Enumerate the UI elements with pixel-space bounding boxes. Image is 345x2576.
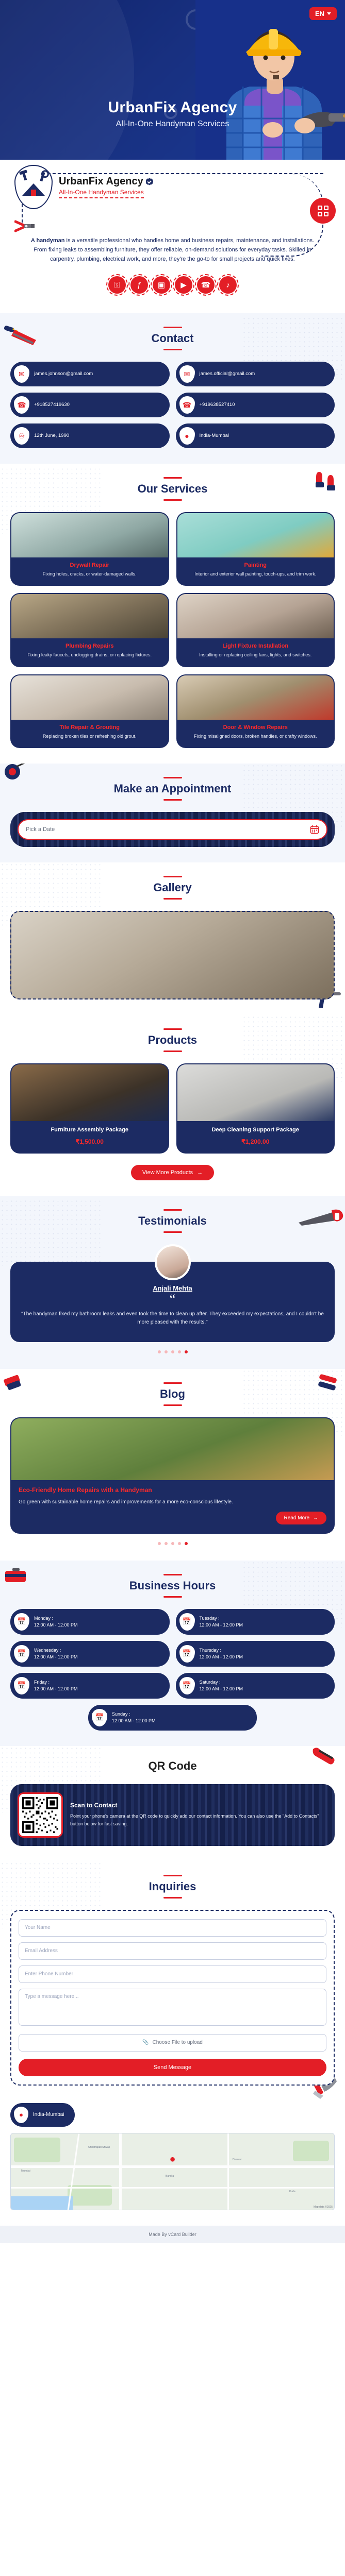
service-card[interactable]: Painting Interior and exterior wall pain…: [176, 512, 335, 586]
contact-header: Contact: [10, 327, 335, 350]
service-desc: Fixing holes, cracks, or water-damaged w…: [17, 571, 163, 578]
section-title: Inquiries: [10, 1880, 335, 1893]
service-desc: Installing or replacing ceiling fans, li…: [183, 652, 329, 658]
divider: [163, 1050, 182, 1052]
location-pill[interactable]: ● India-Mumbai: [10, 2103, 75, 2127]
section-title: Products: [10, 1033, 335, 1047]
brand-name: UrbanFix Agency: [59, 176, 143, 188]
intro-lead: A handyman: [31, 238, 65, 244]
phone-input[interactable]: [19, 1965, 326, 1983]
section-title: QR Code: [10, 1759, 335, 1773]
service-photo: [11, 513, 168, 557]
map-label: Kurla: [289, 2190, 295, 2193]
hours-row-thursday: 📅 Thursday : 12:00 AM - 12:00 PM: [176, 1641, 335, 1667]
contact-value: +918527419630: [34, 402, 70, 408]
hours-row-wednesday: 📅 Wednesday : 12:00 AM - 12:00 PM: [10, 1641, 170, 1667]
service-photo: [11, 594, 168, 638]
hours-time: 12:00 AM - 12:00 PM: [34, 1622, 78, 1628]
map-label: Dharavi: [233, 2158, 241, 2161]
qr-text: Scan to Contact Point your phone's camer…: [70, 1802, 327, 1828]
map-label: Bandra: [166, 2175, 174, 2178]
house-tools-icon: [22, 178, 45, 196]
pliers-icon: [14, 219, 36, 233]
qr-code-icon: [318, 206, 328, 216]
divider: [163, 327, 182, 328]
intro-text: is a versatile professional who handles …: [34, 238, 314, 262]
service-card[interactable]: Door & Window Repairs Fixing misaligned …: [176, 674, 335, 748]
product-price: ₹1,500.00: [15, 1138, 164, 1145]
qr-heading: Scan to Contact: [70, 1802, 327, 1809]
quote-mark-icon: “: [21, 1294, 324, 1305]
appointment-section: Make an Appointment Pick a Date: [0, 764, 345, 862]
section-title: Testimonials: [10, 1214, 335, 1228]
pagination-dot[interactable]: [178, 1542, 181, 1545]
map[interactable]: ● Mumbai Chhatrapati Shivaji Bandra Dhar…: [10, 2133, 335, 2210]
calendar-clock-icon: 📅: [179, 1677, 195, 1694]
divider: [163, 499, 182, 501]
hero-banner: EN UrbanFix Agency All-In-One Handyman S…: [0, 0, 345, 160]
phone-icon: ☎: [14, 396, 29, 414]
gallery-image[interactable]: [10, 911, 335, 999]
map-label: Chhatrapati Shivaji: [88, 2146, 110, 2149]
divider: [163, 1596, 182, 1598]
pagination-dot[interactable]: [171, 1350, 174, 1353]
blog-card[interactable]: Eco-Friendly Home Repairs with a Handyma…: [10, 1417, 335, 1534]
divider: [163, 1028, 182, 1030]
section-title: Make an Appointment: [10, 782, 335, 795]
contact-value: India-Mumbai: [200, 433, 229, 439]
language-label: EN: [315, 10, 324, 18]
view-more-products-label: View More Products: [142, 1170, 193, 1176]
hero-subtitle: All-In-One Handyman Services: [0, 120, 345, 129]
service-name: Plumbing Repairs: [17, 643, 163, 649]
product-photo: [11, 1064, 168, 1121]
calendar-clock-icon: 📅: [92, 1709, 107, 1726]
service-desc: Replacing broken tiles or refreshing old…: [17, 733, 163, 740]
blog-section: Blog Eco-Friendly Home Repairs with a Ha…: [0, 1369, 345, 1561]
calendar-clock-icon: 📅: [179, 1645, 195, 1663]
testimonial-pagination[interactable]: [10, 1350, 335, 1353]
calendar-clock-icon: 📅: [179, 1613, 195, 1631]
divider: [163, 477, 182, 479]
calendar-clock-icon: 📅: [14, 1677, 29, 1694]
divider: [163, 1209, 182, 1211]
map-pin-icon: ●: [169, 2154, 175, 2165]
pagination-dot[interactable]: [171, 1542, 174, 1545]
facebook-icon[interactable]: ƒ: [130, 276, 148, 294]
service-card[interactable]: Plumbing Repairs Fixing leaky faucets, u…: [10, 593, 169, 667]
name-input[interactable]: [19, 1919, 326, 1937]
blog-header: Blog: [10, 1382, 335, 1406]
whatsapp-icon[interactable]: ☎: [197, 276, 215, 294]
divider: [163, 1404, 182, 1406]
blog-post-desc: Go green with sustainable home repairs a…: [19, 1498, 326, 1506]
qr-code-image[interactable]: [18, 1792, 63, 1838]
service-card[interactable]: Drywall Repair Fixing holes, cracks, or …: [10, 512, 169, 586]
contact-value: +919638527410: [200, 402, 235, 408]
qr-card: Scan to Contact Point your phone's camer…: [10, 1784, 335, 1846]
service-photo: [177, 513, 334, 557]
section-title: Business Hours: [10, 1579, 335, 1592]
testimonial-wrap: Anjali Mehta “ "The handyman fixed my ba…: [10, 1244, 335, 1353]
gallery-header: Gallery: [10, 876, 335, 900]
hero-blob: [0, 0, 134, 160]
products-grid: Furniture Assembly Package ₹1,500.00 Dee…: [10, 1063, 335, 1154]
section-title: Our Services: [10, 482, 335, 496]
calendar-clock-icon: 📅: [14, 1645, 29, 1663]
arrow-right-icon: →: [313, 1515, 318, 1521]
service-card[interactable]: Light Fixture Installation Installing or…: [176, 593, 335, 667]
calendar-icon: [310, 825, 319, 834]
divider: [163, 898, 182, 900]
language-selector[interactable]: EN: [309, 7, 337, 20]
hours-day: Thursday :: [200, 1648, 222, 1653]
intro-paragraph: A handyman is a versatile professional w…: [10, 223, 335, 267]
upload-icon: 📎: [142, 2040, 149, 2045]
birthday-cake-icon: ♾: [14, 427, 29, 445]
qr-header: QR Code: [10, 1759, 335, 1773]
hours-last-row-wrap: 📅 Sunday : 12:00 AM - 12:00 PM: [10, 1705, 335, 1731]
divider: [163, 876, 182, 877]
qr-description: Point your phone's camera at the QR code…: [70, 1812, 327, 1828]
hero-handyman-photo: [195, 0, 345, 160]
brand-card: UrbanFix Agency All-In-One Handyman Serv…: [0, 160, 345, 313]
testimonial-quote: "The handyman fixed my bathroom leaks an…: [21, 1310, 324, 1327]
divider: [163, 1897, 182, 1899]
testimonials-header: Testimonials: [10, 1209, 335, 1233]
file-upload-button[interactable]: 📎 Choose File to upload: [19, 2034, 326, 2052]
pagination-dot-active[interactable]: [185, 1542, 188, 1545]
brand-text: UrbanFix Agency All-In-One Handyman Serv…: [59, 176, 153, 198]
hours-row-tuesday: 📅 Tuesday : 12:00 AM - 12:00 PM: [176, 1609, 335, 1635]
contact-value: james.official@gmail.com: [200, 371, 255, 377]
product-photo: [177, 1064, 334, 1121]
product-card[interactable]: Furniture Assembly Package ₹1,500.00: [10, 1063, 169, 1154]
map-label: Mumbai: [21, 2170, 30, 2173]
email-input[interactable]: [19, 1942, 326, 1960]
service-name: Light Fixture Installation: [183, 643, 329, 649]
services-header: Our Services: [10, 477, 335, 501]
service-name: Tile Repair & Grouting: [17, 724, 163, 731]
service-photo: [11, 675, 168, 720]
contact-value: james.johnson@gmail.com: [34, 371, 93, 377]
product-card[interactable]: Deep Cleaning Support Package ₹1,200.00: [176, 1063, 335, 1154]
product-name: Furniture Assembly Package: [15, 1126, 164, 1134]
hours-time: 12:00 AM - 12:00 PM: [34, 1654, 78, 1659]
service-name: Door & Window Repairs: [183, 724, 329, 731]
website-icon[interactable]: ⚿: [108, 276, 126, 294]
contact-item-birthday[interactable]: ♾ 12th June, 1990: [10, 423, 170, 448]
read-more-label: Read More: [284, 1515, 309, 1521]
location-section: ● India-Mumbai ● Mumbai Chhatrapati Shiv…: [0, 2101, 345, 2226]
contact-section: Contact ✉ james.johnson@gmail.com ✉ jame…: [0, 313, 345, 464]
hero-title: UrbanFix Agency: [0, 99, 345, 116]
service-desc: Interior and exterior wall painting, tou…: [183, 571, 329, 578]
blog-photo: [11, 1418, 334, 1480]
hours-row-saturday: 📅 Saturday : 12:00 AM - 12:00 PM: [176, 1673, 335, 1699]
contact-grid: ✉ james.johnson@gmail.com ✉ james.offici…: [10, 362, 335, 448]
service-photo: [177, 594, 334, 638]
email-icon: ✉: [179, 365, 195, 383]
date-placeholder: Pick a Date: [26, 826, 55, 833]
service-name: Painting: [183, 562, 329, 568]
pagination-dot[interactable]: [178, 1350, 181, 1353]
calendar-clock-icon: 📅: [14, 1613, 29, 1631]
product-price: ₹1,200.00: [182, 1138, 330, 1145]
products-cta-wrap: View More Products →: [10, 1165, 335, 1180]
send-message-button[interactable]: Send Message: [19, 2059, 326, 2076]
divider: [163, 799, 182, 801]
hours-time: 12:00 AM - 12:00 PM: [200, 1654, 243, 1659]
hours-day: Wednesday :: [34, 1648, 61, 1653]
section-title: Blog: [10, 1387, 335, 1401]
phone-icon: ☎: [179, 396, 195, 414]
hours-day: Friday :: [34, 1680, 50, 1685]
divider: [163, 1574, 182, 1575]
qr-code-fab-button[interactable]: [310, 198, 336, 224]
appointment-card: Pick a Date: [10, 812, 335, 847]
divider: [163, 1231, 182, 1233]
divider: [163, 1875, 182, 1876]
contact-item-email-1[interactable]: ✉ james.johnson@gmail.com: [10, 362, 170, 386]
location-pin-icon: ●: [14, 2107, 28, 2123]
section-title: Contact: [10, 332, 335, 345]
hours-day: Tuesday :: [200, 1616, 220, 1621]
brand-tagline: All-In-One Handyman Services: [59, 189, 144, 198]
instagram-icon[interactable]: ▣: [153, 276, 170, 294]
hours-time: 12:00 AM - 12:00 PM: [112, 1718, 156, 1723]
hero-text: UrbanFix Agency All-In-One Handyman Serv…: [0, 99, 345, 129]
location-pin-icon: ●: [179, 427, 195, 445]
view-more-products-button[interactable]: View More Products →: [131, 1165, 214, 1180]
business-hours-section: Business Hours 📅 Monday : 12:00 AM - 12:…: [0, 1561, 345, 1746]
footer: Made By vCard Builder: [0, 2226, 345, 2243]
verified-badge-icon: [146, 178, 153, 185]
service-name: Drywall Repair: [17, 562, 163, 568]
service-card[interactable]: Tile Repair & Grouting Replacing broken …: [10, 674, 169, 748]
testimonials-section: Testimonials Anjali Mehta “ "The handyma…: [0, 1196, 345, 1369]
social-links: ⚿ ƒ ▣ ▶ ☎ ♪: [10, 267, 335, 307]
pagination-dot[interactable]: [158, 1350, 161, 1353]
pagination-dot-active[interactable]: [185, 1350, 188, 1353]
qr-code-icon: [22, 1797, 58, 1833]
products-section: Products Furniture Assembly Package ₹1,5…: [0, 1015, 345, 1196]
business-hours-header: Business Hours: [10, 1574, 335, 1598]
divider: [163, 1382, 182, 1384]
location-label: India-Mumbai: [33, 2112, 64, 2117]
email-icon: ✉: [14, 365, 29, 383]
service-desc: Fixing leaky faucets, unclogging drains,…: [17, 652, 163, 658]
hours-time: 12:00 AM - 12:00 PM: [200, 1622, 243, 1628]
pagination-dot[interactable]: [165, 1350, 168, 1353]
date-picker[interactable]: Pick a Date: [18, 819, 327, 840]
youtube-icon[interactable]: ▶: [175, 276, 192, 294]
contact-item-phone-1[interactable]: ☎ +918527419630: [10, 393, 170, 417]
pagination-dot[interactable]: [158, 1542, 161, 1545]
pagination-dot[interactable]: [165, 1542, 168, 1545]
brand-logo-row: UrbanFix Agency All-In-One Handyman Serv…: [14, 165, 153, 209]
service-photo: [177, 675, 334, 720]
blog-post-title: Eco-Friendly Home Repairs with a Handyma…: [19, 1486, 326, 1494]
service-desc: Fixing misaligned doors, broken handles,…: [183, 733, 329, 740]
services-grid: Drywall Repair Fixing holes, cracks, or …: [10, 512, 335, 748]
avatar: [155, 1244, 191, 1280]
arrow-right-icon: →: [197, 1170, 203, 1176]
footer-text: Made By vCard Builder: [149, 2232, 196, 2237]
read-more-button[interactable]: Read More →: [276, 1512, 326, 1524]
contact-item-phone-2[interactable]: ☎ +919638527410: [176, 393, 335, 417]
vcard-page: EN UrbanFix Agency All-In-One Handyman S…: [0, 0, 345, 2243]
qr-section: QR Code: [0, 1746, 345, 1861]
inquiries-header: Inquiries: [10, 1875, 335, 1899]
inquiries-section: Inquiries 📎 Choose File to upload Send M…: [0, 1861, 345, 2101]
section-title: Gallery: [10, 881, 335, 894]
appointment-header: Make an Appointment: [10, 777, 335, 801]
contact-value: 12th June, 1990: [34, 433, 69, 439]
products-header: Products: [10, 1028, 335, 1052]
inquiry-form: 📎 Choose File to upload Send Message: [10, 1910, 335, 2086]
hours-day: Monday :: [34, 1616, 53, 1621]
message-textarea[interactable]: [19, 1989, 326, 2026]
contact-item-location[interactable]: ● India-Mumbai: [176, 423, 335, 448]
contact-item-email-2[interactable]: ✉ james.official@gmail.com: [176, 362, 335, 386]
blog-pagination[interactable]: [10, 1542, 335, 1545]
chevron-down-icon: [327, 12, 331, 15]
hours-row-monday: 📅 Monday : 12:00 AM - 12:00 PM: [10, 1609, 170, 1635]
hours-row-sunday: 📅 Sunday : 12:00 AM - 12:00 PM: [88, 1705, 257, 1731]
brand-name-row: UrbanFix Agency: [59, 176, 153, 188]
divider: [163, 349, 182, 350]
product-name: Deep Cleaning Support Package: [182, 1126, 330, 1134]
tiktok-icon[interactable]: ♪: [219, 276, 237, 294]
gallery-section: Gallery: [0, 862, 345, 1015]
testimonial-author: Anjali Mehta: [21, 1284, 324, 1292]
map-credit: Map data ©2025: [314, 2206, 333, 2209]
services-section: Our Services Drywall Repair Fixing holes…: [0, 464, 345, 763]
hours-time: 12:00 AM - 12:00 PM: [200, 1686, 243, 1691]
divider: [163, 777, 182, 778]
hours-time: 12:00 AM - 12:00 PM: [34, 1686, 78, 1691]
brand-logo-shield: [14, 165, 53, 209]
hours-grid: 📅 Monday : 12:00 AM - 12:00 PM 📅 Tuesday…: [10, 1609, 335, 1699]
hours-day: Sunday :: [112, 1711, 130, 1717]
hours-row-friday: 📅 Friday : 12:00 AM - 12:00 PM: [10, 1673, 170, 1699]
hours-day: Saturday :: [200, 1680, 221, 1685]
file-upload-label: Choose File to upload: [153, 2040, 203, 2045]
